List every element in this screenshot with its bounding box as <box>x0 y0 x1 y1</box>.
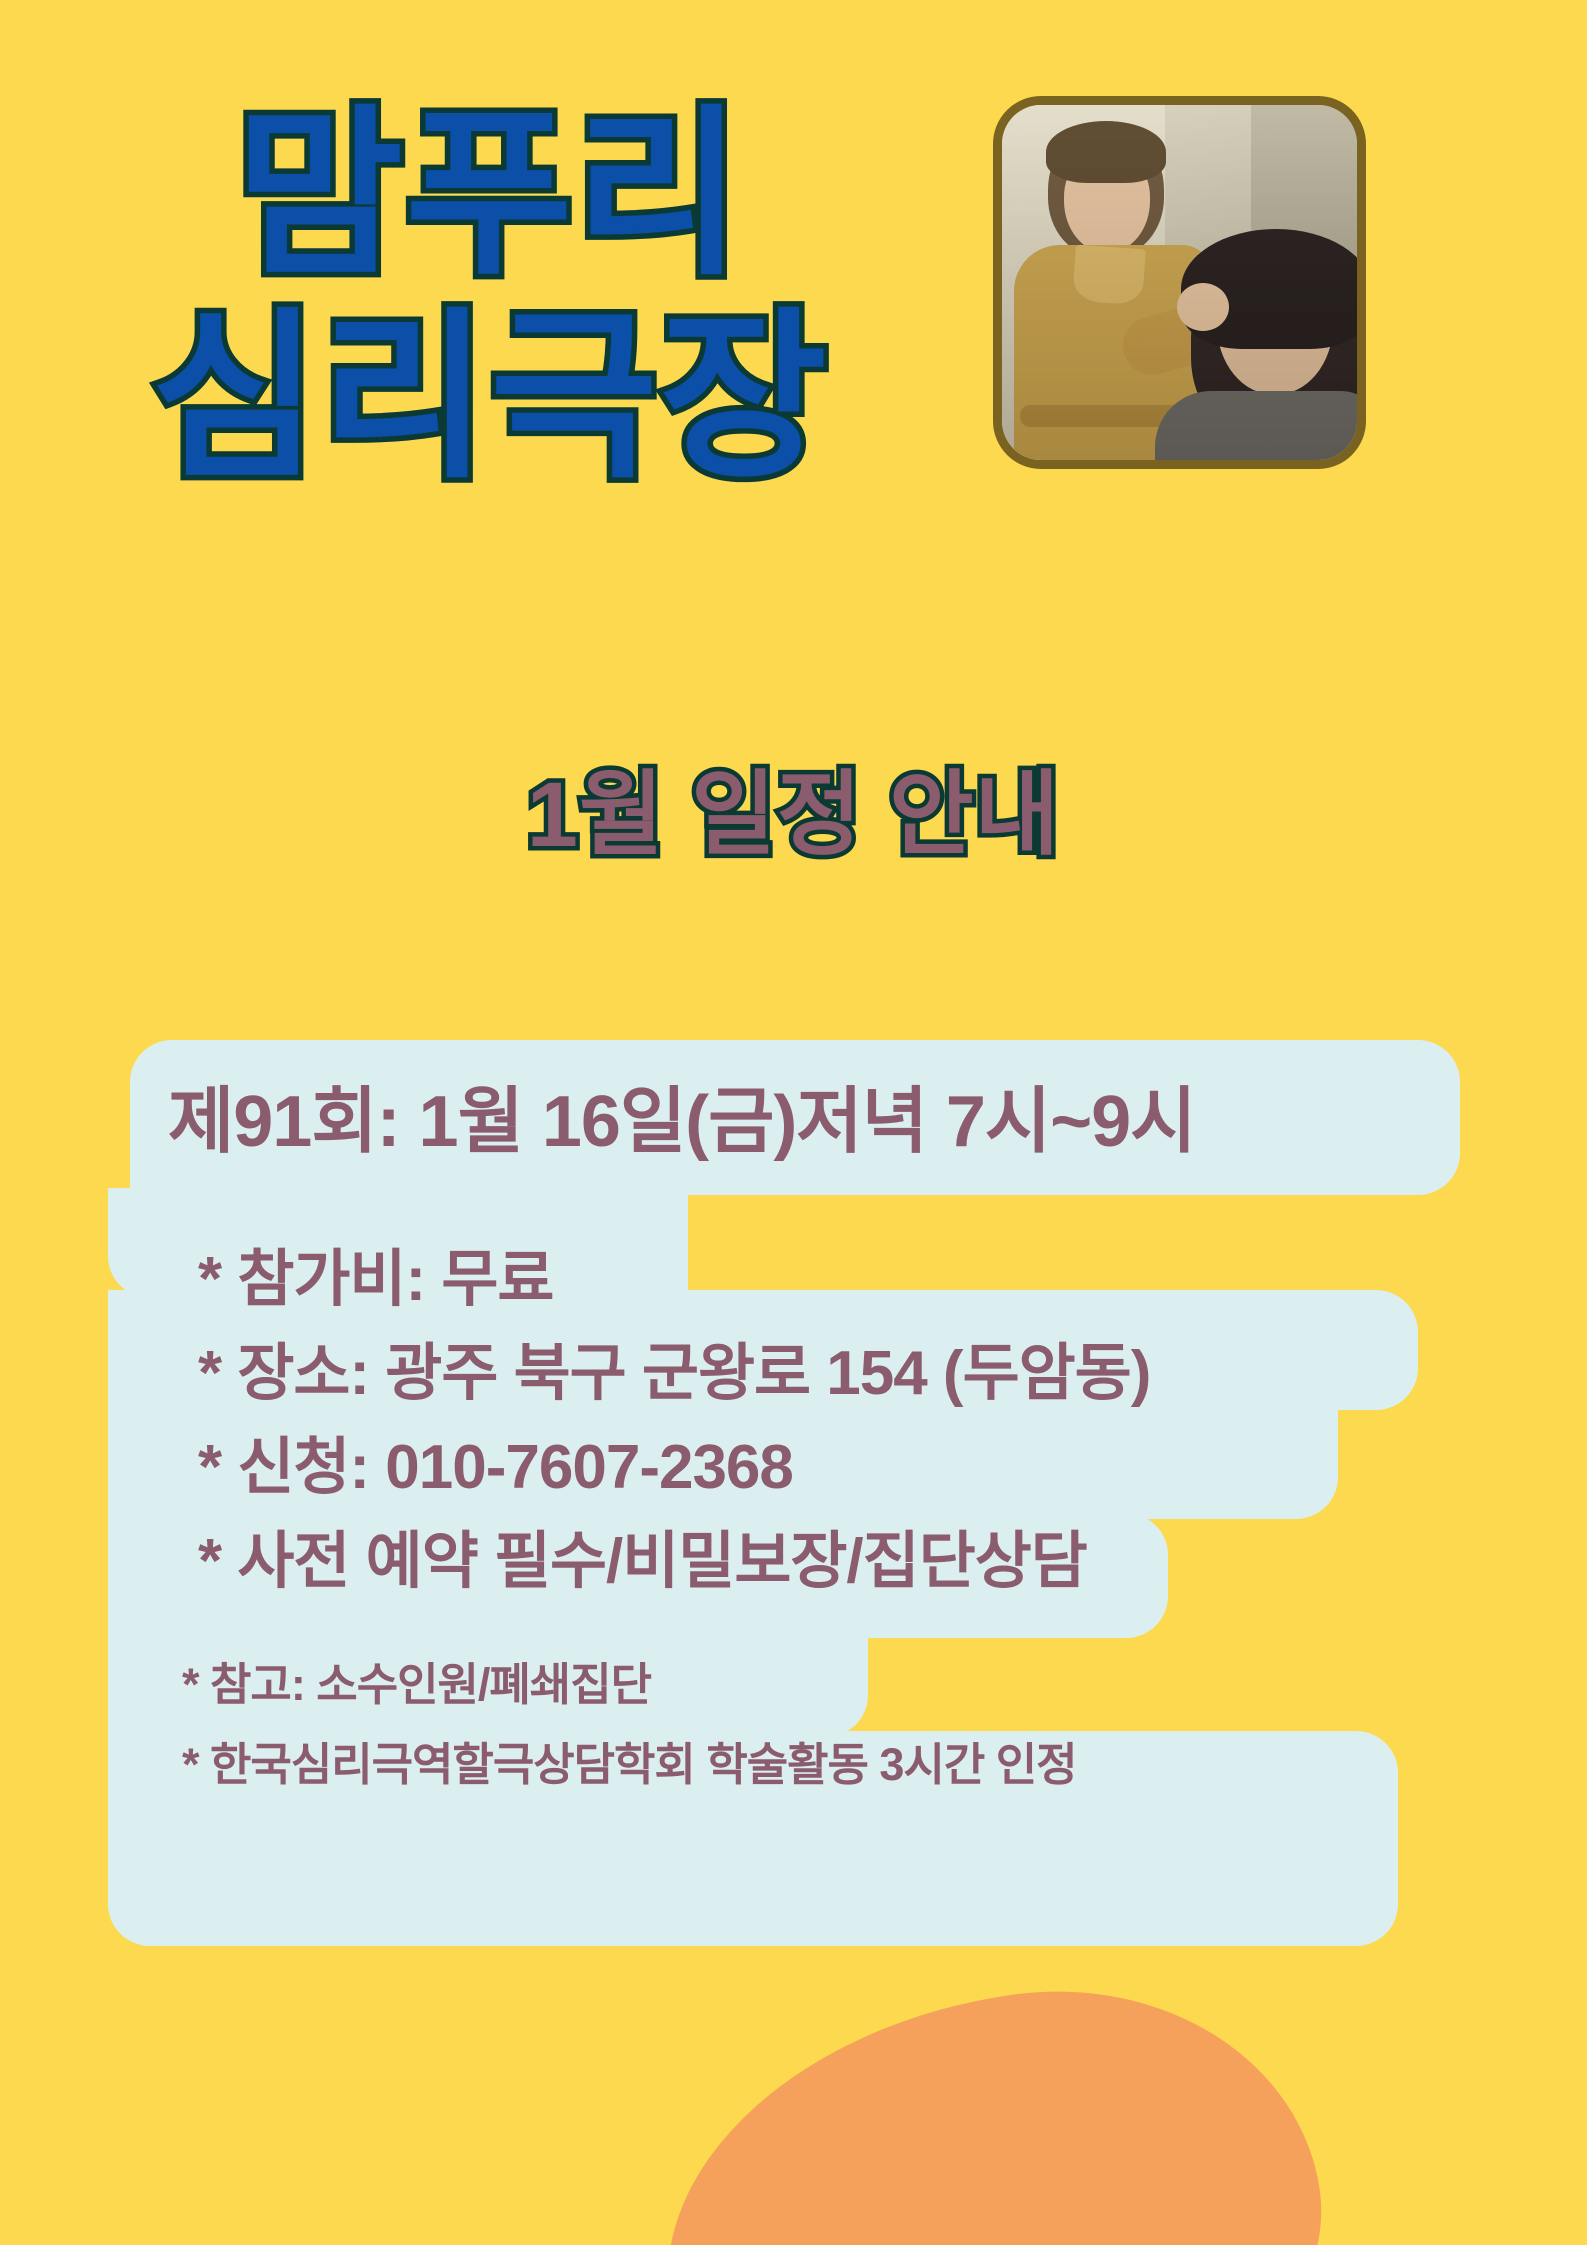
session-headline: 제91회: 1월 16일(금)저녁 7시~9시 <box>168 1062 1195 1167</box>
info-item-phone[interactable]: * 신청: 010-7607-2368 <box>198 1416 793 1506</box>
poster-canvas: 맘푸리 심리극장 1월 일정 안내 <box>0 0 1587 2245</box>
counseling-photo <box>993 96 1366 469</box>
info-item-fee: * 참가비: 무료 <box>198 1228 553 1318</box>
title-line-1: 맘푸리 <box>0 96 980 293</box>
note-item-accreditation: * 한국심리극역할극상담학회 학술활동 3시간 인정 <box>182 1728 1077 1793</box>
decorative-blob <box>633 1956 1346 2245</box>
info-panel: 제91회: 1월 16일(금)저녁 7시~9시 * 참가비: 무료 * 장소: … <box>0 1040 1587 1970</box>
photo-illustration <box>1002 105 1357 460</box>
poster-subtitle: 1월 일정 안내 <box>0 740 1587 873</box>
poster-title: 맘푸리 심리극장 <box>0 96 980 495</box>
title-line-2: 심리극장 <box>0 299 980 496</box>
photo-overlay <box>1002 105 1357 460</box>
info-item-location: * 장소: 광주 북구 군왕로 154 (두암동) <box>198 1322 1150 1412</box>
note-item-group: * 참고: 소수인원/폐쇄집단 <box>182 1648 651 1713</box>
info-item-reservation: * 사전 예약 필수/비밀보장/집단상담 <box>198 1510 1087 1600</box>
